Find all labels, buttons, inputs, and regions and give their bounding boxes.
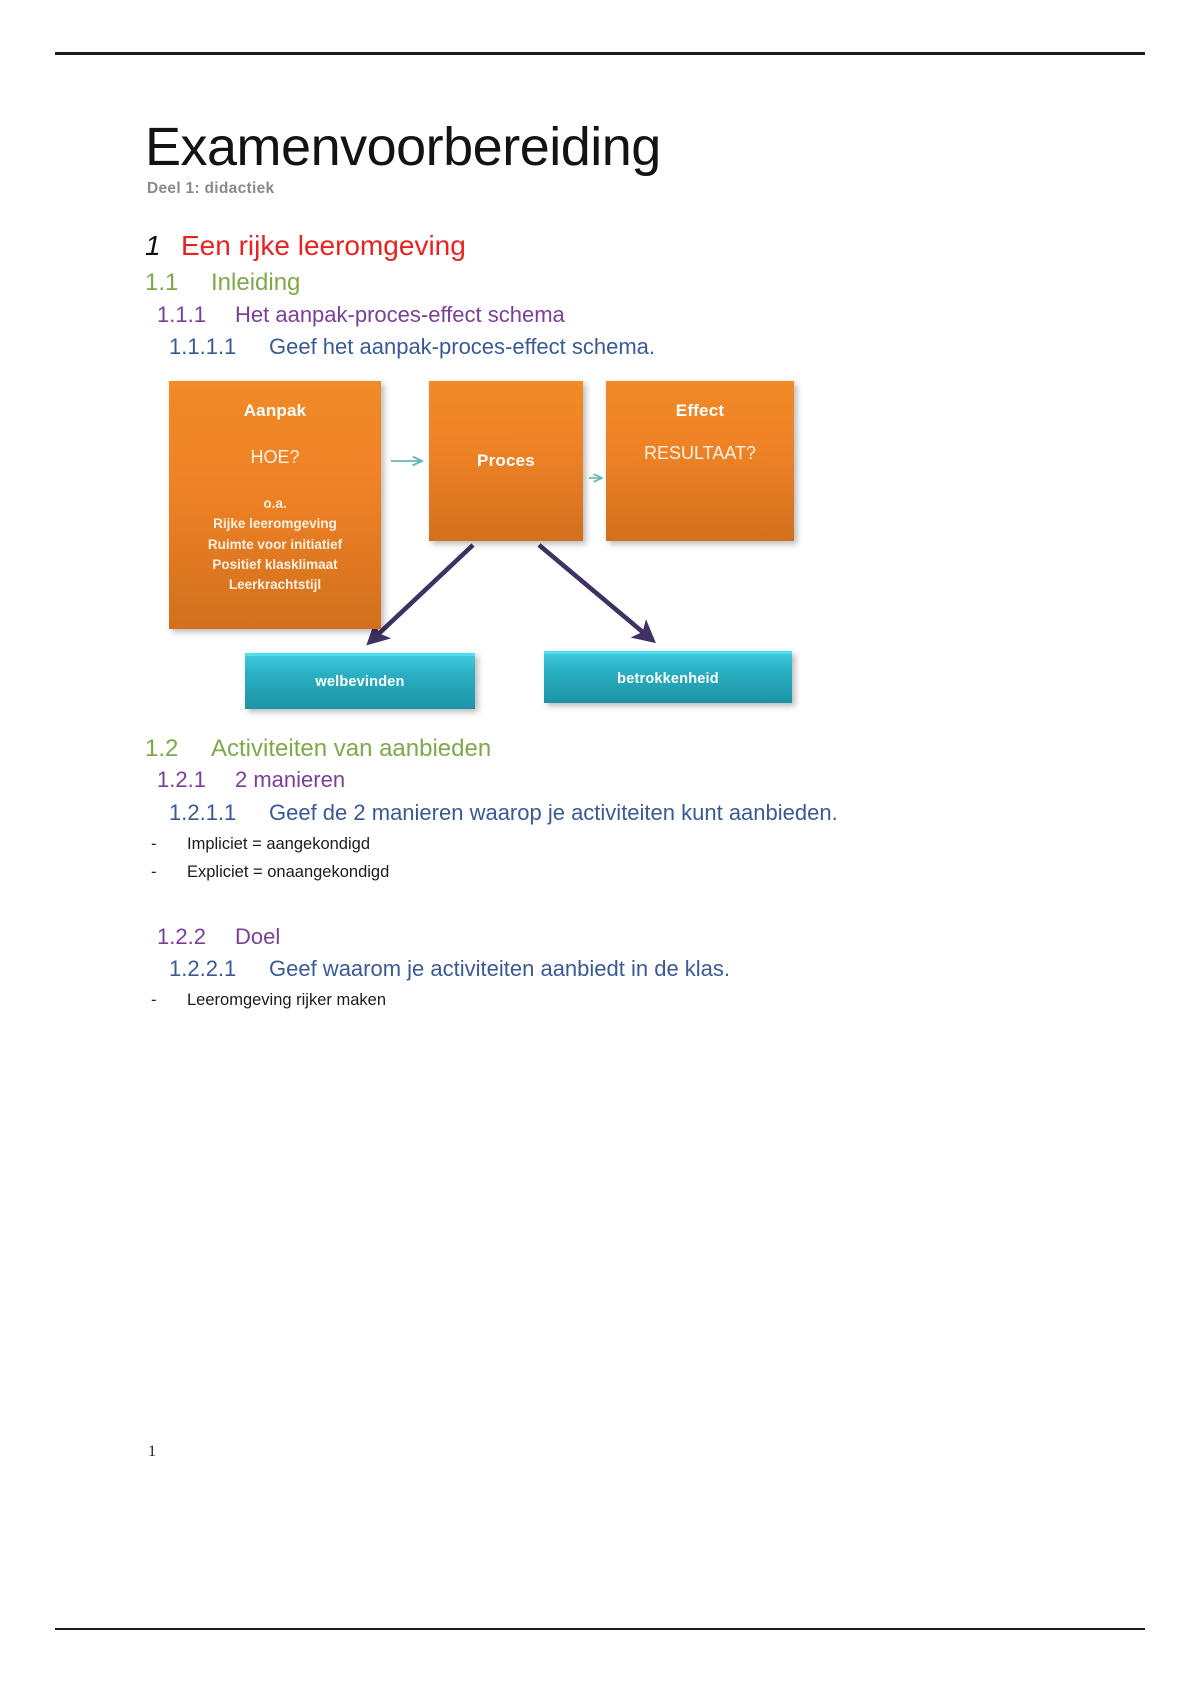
diagram-box-effect-title: Effect <box>606 401 794 421</box>
heading-1-2-1-number: 1.2.1 <box>157 766 235 795</box>
heading-1-2-1-1-question: 1.2.1.1 Geef de 2 manieren waarop je act… <box>169 798 1085 827</box>
diagram-box-welbevinden: welbevinden <box>245 653 475 709</box>
arrow-proces-to-welbevinden <box>371 545 473 641</box>
diagram-box-aanpak-subtitle: HOE? <box>169 447 381 468</box>
heading-1-1-1-1-text: Geef het aanpak-proces-effect schema. <box>269 332 655 361</box>
list-item-text: Leeromgeving rijker maken <box>187 986 386 1014</box>
heading-1-number: 1 <box>145 228 181 263</box>
heading-1-1-1-number: 1.1.1 <box>157 301 235 330</box>
list-manieren: - Impliciet = aangekondigd - Expliciet =… <box>151 830 1085 887</box>
diagram-box-betrokkenheid-title: betrokkenheid <box>544 654 792 704</box>
heading-1-1-number: 1.1 <box>145 267 211 298</box>
heading-1-text: Een rijke leeromgeving <box>181 228 466 263</box>
page-number: 1 <box>148 1443 156 1461</box>
heading-1-2-1-manieren: 1.2.1 2 manieren <box>157 766 1085 795</box>
header-rule <box>55 52 1145 55</box>
heading-1-1-1-text: Het aanpak-proces-effect schema <box>235 301 565 330</box>
document-page: Examenvoorbereiding Deel 1: didactiek 1 … <box>0 0 1200 1700</box>
dash-bullet: - <box>151 858 187 886</box>
list-item-text: Expliciet = onaangekondigd <box>187 858 389 886</box>
heading-1-2-2-1-number: 1.2.2.1 <box>169 954 269 983</box>
heading-1-1-1-schema: 1.1.1 Het aanpak-proces-effect schema <box>157 301 1085 330</box>
heading-1-2-2-number: 1.2.2 <box>157 923 235 952</box>
dash-bullet: - <box>151 830 187 858</box>
list-item: - Leeromgeving rijker maken <box>151 986 1085 1014</box>
heading-1-2-1-text: 2 manieren <box>235 766 345 795</box>
heading-1-2-activiteiten: 1.2 Activiteiten van aanbieden <box>145 733 1085 764</box>
list-item: - Impliciet = aangekondigd <box>151 830 1085 858</box>
diagram-box-proces: Proces <box>429 381 583 541</box>
diagram-box-effect-subtitle: RESULTAAT? <box>606 443 794 464</box>
page-subtitle: Deel 1: didactiek <box>147 180 1085 198</box>
footer-rule <box>55 1628 1145 1630</box>
page-title: Examenvoorbereiding <box>145 118 1085 176</box>
diagram-box-effect: Effect RESULTAAT? <box>606 381 794 541</box>
arrow-proces-to-betrokkenheid <box>539 545 651 639</box>
list-item-text: Impliciet = aangekondigd <box>187 830 370 858</box>
heading-1-2-2-1-question: 1.2.2.1 Geef waarom je activiteiten aanb… <box>169 954 1085 983</box>
heading-1-2-1-1-number: 1.2.1.1 <box>169 798 269 827</box>
heading-1-2-number: 1.2 <box>145 733 211 764</box>
diagram-box-aanpak-list: o.a. Rijke leeromgeving Ruimte voor init… <box>169 494 381 595</box>
diagram-box-welbevinden-title: welbevinden <box>245 656 475 708</box>
heading-1-1-inleiding: 1.1 Inleiding <box>145 267 1085 298</box>
diagram-box-aanpak: Aanpak HOE? o.a. Rijke leeromgeving Ruim… <box>169 381 381 629</box>
diagram-box-aanpak-title: Aanpak <box>169 401 381 421</box>
heading-1-2-2-text: Doel <box>235 923 280 952</box>
heading-1-1-text: Inleiding <box>211 267 300 298</box>
heading-1-1-1-1-question: 1.1.1.1 Geef het aanpak-proces-effect sc… <box>169 332 1085 361</box>
diagram-box-proces-title: Proces <box>429 381 583 541</box>
heading-1-2-2-1-text: Geef waarom je activiteiten aanbiedt in … <box>269 954 730 983</box>
diagram-box-betrokkenheid: betrokkenheid <box>544 651 792 703</box>
heading-1-2-1-1-text: Geef de 2 manieren waarop je activiteite… <box>269 798 838 827</box>
dash-bullet: - <box>151 986 187 1014</box>
heading-1-2-text: Activiteiten van aanbieden <box>211 733 491 764</box>
heading-1-1-1-1-number: 1.1.1.1 <box>169 332 269 361</box>
aanpak-proces-effect-diagram: Aanpak HOE? o.a. Rijke leeromgeving Ruim… <box>159 373 859 723</box>
list-doel: - Leeromgeving rijker maken <box>151 986 1085 1014</box>
document-content: Examenvoorbereiding Deel 1: didactiek 1 … <box>145 118 1085 1017</box>
heading-1-2-2-doel: 1.2.2 Doel <box>157 923 1085 952</box>
list-item: - Expliciet = onaangekondigd <box>151 858 1085 886</box>
heading-1-een-rijke-leeromgeving: 1 Een rijke leeromgeving <box>145 228 1085 263</box>
